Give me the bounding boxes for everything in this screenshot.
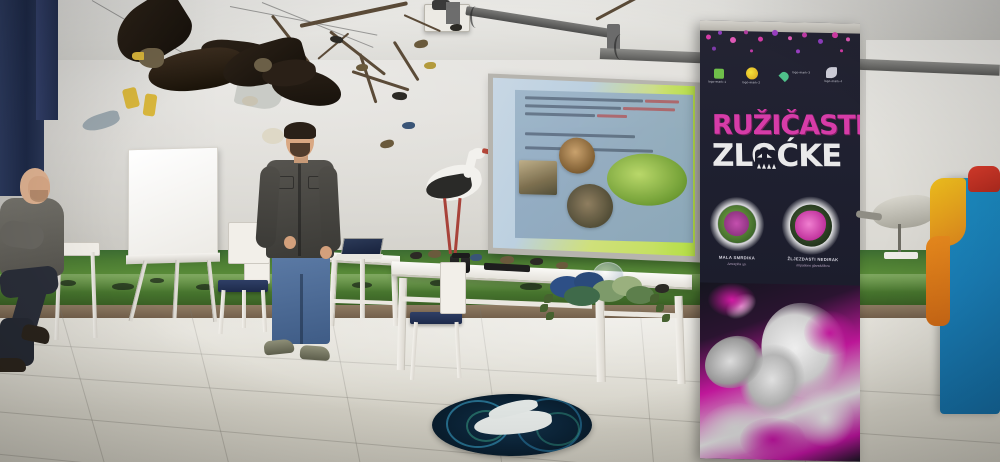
presenter-beard (290, 143, 310, 157)
easel-leg (172, 260, 179, 318)
second-eagle-head (254, 58, 272, 72)
attendee-beard (30, 190, 48, 202)
wall-cable (614, 34, 628, 60)
banner-title-line-2: ZLOĆKE (712, 138, 853, 174)
owl-mount (242, 96, 258, 106)
lily-engraving-artwork (700, 282, 860, 461)
seated-attendee (0, 168, 80, 368)
sponsor-logo-4-label: logo-mark-4 (824, 80, 850, 84)
sponsor-logo-2-icon (746, 67, 758, 79)
presenter-right-arm (318, 166, 341, 253)
presenter-shoe (263, 338, 294, 355)
specimen-label-2: ŽLJEZDASTI NEDIRAK (776, 256, 850, 263)
slide-text-line (525, 104, 621, 110)
bird-mount-leg (898, 224, 901, 254)
small-bird-mount (450, 24, 462, 31)
small-bird-mount (356, 64, 368, 71)
side-table-leg (360, 258, 365, 318)
presenter-hand (284, 236, 296, 249)
moss-arrangement (540, 272, 670, 322)
slide-text-line (623, 107, 675, 111)
bird-mount-base (884, 252, 918, 259)
projection-screen[interactable] (493, 78, 695, 256)
table-bird-mount (428, 250, 441, 258)
sponsor-logo-1-label: logo-mark-1 (708, 80, 734, 84)
slide-content (515, 90, 693, 243)
flipchart-easel (128, 148, 220, 323)
sponsor-logo-1-icon (714, 69, 724, 79)
small-bird-mount (424, 62, 436, 69)
fish-prey (81, 108, 122, 134)
presenter-leg-seam (300, 274, 303, 344)
table-bird-mount (470, 254, 482, 261)
specimen-latin-2: Impatiens glandulifera (776, 263, 850, 269)
specimen-photo-2 (782, 196, 840, 255)
table-bird-mount (530, 258, 543, 265)
presenter-shoe (300, 345, 331, 361)
specimen-label-1: MALA SMRDIKA (702, 254, 772, 260)
flipchart-tray (126, 253, 220, 265)
jacket-placket (298, 164, 301, 256)
classroom-presentation-photo: logo-mark-1 logo-mark-2 logo-mark-3 logo… (0, 0, 1000, 462)
curtain-fold (36, 0, 58, 120)
roll-up-banner: logo-mark-1 logo-mark-2 logo-mark-3 logo… (700, 20, 860, 461)
specimen-latin-1: Amorpha sp. (702, 261, 772, 266)
chair[interactable] (404, 296, 466, 392)
capybara-photo (567, 183, 613, 228)
table-bird-mount (410, 252, 422, 259)
eagle-talon (143, 93, 158, 116)
inflatable-orange-part (926, 236, 950, 326)
inflatable-red-part (968, 166, 1000, 192)
slide-text-line (525, 96, 643, 102)
presenter-hair (284, 122, 316, 139)
sponsor-logo-4-icon (826, 67, 837, 78)
slide-text-line (525, 112, 595, 117)
eagle-talon (122, 87, 140, 110)
flipchart-paper (128, 147, 218, 260)
sponsor-logo-3-label: logo-mark-3 (792, 71, 818, 75)
stork-leg (453, 198, 461, 256)
table-bird-mount (556, 262, 568, 269)
stork-leg (443, 198, 452, 254)
easel-leg (129, 260, 148, 321)
slide-text-line (597, 114, 627, 118)
sponsor-logo-2-label: logo-mark-2 (742, 81, 766, 85)
monster-face-icon (755, 149, 777, 169)
projector-mount (446, 2, 460, 24)
eagle-beak-icon (132, 52, 144, 60)
second-eagle-taxidermy (222, 32, 342, 122)
attendee-shoe (0, 358, 26, 372)
rodent-photo (559, 137, 595, 174)
small-bird-mount (402, 122, 415, 129)
banner-title-line-1: RUŽIČASTE (712, 110, 853, 141)
presenter (258, 124, 344, 370)
projector-cable (470, 6, 482, 28)
specimen-photo-1 (710, 197, 764, 252)
floor-mat (432, 394, 592, 456)
mammal-photo (519, 160, 557, 195)
reedbed-photo (607, 153, 687, 207)
slide-text-line (645, 100, 679, 104)
presenter-hand (320, 246, 332, 259)
